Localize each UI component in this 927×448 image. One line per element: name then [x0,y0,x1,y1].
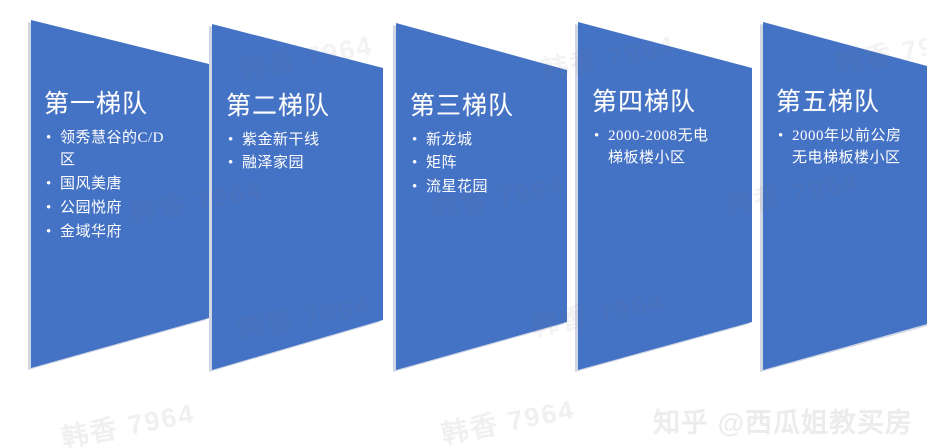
tier-panel-3[interactable]: 第三梯队 •新龙城 •矩阵 •流星花园 [378,0,593,448]
list-item-label: 公园悦府 [60,200,122,216]
chevron-shape [562,0,777,448]
bullet-icon: • [228,129,234,152]
list-item-label: 紫金新干线 [242,132,320,148]
chevron-shape [378,0,593,448]
list-item-label: 金域华府 [60,224,122,240]
panel-list: •新龙城 •矩阵 •流星花园 [410,129,548,199]
list-item: •国风美唐 [44,173,172,196]
list-item: •流星花园 [410,176,548,199]
list-item: •紫金新干线 [226,129,360,152]
list-item: •2000-2008无电梯板楼小区 [592,125,716,171]
panel-content: 第二梯队 •紫金新干线 •融泽家园 [226,92,360,176]
panel-title: 第二梯队 [226,92,360,123]
bullet-icon: • [46,173,52,196]
bullet-icon: • [412,152,418,175]
panel-list: •2000-2008无电梯板楼小区 [592,125,716,171]
bullet-icon: • [46,221,52,244]
bullet-icon: • [412,176,418,199]
bullet-icon: • [46,197,52,220]
list-item: •金域华府 [44,221,172,244]
bullet-icon: • [778,125,784,148]
panel-title: 第三梯队 [410,92,548,123]
list-item: •融泽家园 [226,152,360,175]
bullet-icon: • [412,129,418,152]
tier-panel-2[interactable]: 第二梯队 •紫金新干线 •融泽家园 [190,0,410,448]
panel-title: 第一梯队 [44,90,172,121]
list-item-label: 矩阵 [426,155,457,171]
panel-content: 第四梯队 •2000-2008无电梯板楼小区 [592,88,716,171]
tier-panel-5[interactable]: 第五梯队 •2000年以前公房无电梯板楼小区 [748,0,927,448]
list-item-label: 流星花园 [426,179,488,195]
panel-content: 第三梯队 •新龙城 •矩阵 •流星花园 [410,92,548,200]
list-item: •矩阵 [410,152,548,175]
list-item-label: 领秀慧谷的C/D区 [60,130,164,169]
list-item: •新龙城 [410,129,548,152]
list-item: •领秀慧谷的C/D区 [44,127,172,173]
list-item-label: 融泽家园 [242,155,304,171]
panel-title: 第四梯队 [592,88,716,119]
tier-panel-4[interactable]: 第四梯队 •2000-2008无电梯板楼小区 [562,0,777,448]
zhihu-credit-watermark: 知乎 @西瓜姐教买房 [653,401,913,440]
panel-title: 第五梯队 [776,88,902,119]
chevron-shape [190,0,410,448]
slide-canvas: 韩香 7964 韩香 7964 韩香 7964 韩香 7964 韩香 7964 … [0,0,927,448]
list-item: •2000年以前公房无电梯板楼小区 [776,125,902,171]
bullet-icon: • [228,152,234,175]
panel-list: •领秀慧谷的C/D区 •国风美唐 •公园悦府 •金域华府 [44,127,172,244]
list-item-label: 国风美唐 [60,176,122,192]
panel-list: •紫金新干线 •融泽家园 [226,129,360,176]
list-item: •公园悦府 [44,197,172,220]
chevron-shape [748,0,927,448]
panel-content: 第一梯队 •领秀慧谷的C/D区 •国风美唐 •公园悦府 •金域华府 [44,90,172,244]
bullet-icon: • [594,125,600,148]
list-item-label: 2000-2008无电梯板楼小区 [608,128,709,167]
bullet-icon: • [46,127,52,150]
list-item-label: 2000年以前公房无电梯板楼小区 [792,128,902,167]
list-item-label: 新龙城 [426,132,473,148]
panel-list: •2000年以前公房无电梯板楼小区 [776,125,902,171]
panel-content: 第五梯队 •2000年以前公房无电梯板楼小区 [776,88,902,171]
